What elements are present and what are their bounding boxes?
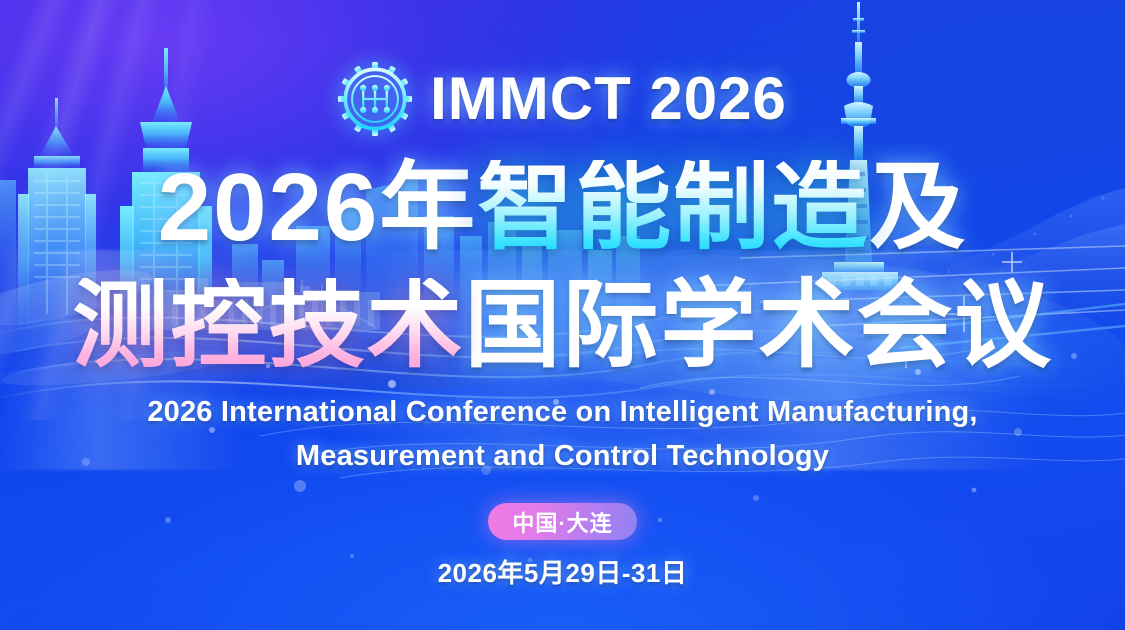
title-cn-l1-seg1: 2026年 <box>158 160 478 256</box>
title-cn-line1: 2026年智能制造及 <box>0 160 1125 256</box>
location-badge: 中国·大连 <box>488 503 636 540</box>
title-cn-l1-seg3: 及 <box>869 160 967 256</box>
title-cn-l1-seg2: 智能制造 <box>477 160 869 256</box>
subtitle-en-line1: 2026 International Conference on Intelli… <box>0 394 1125 430</box>
event-date: 2026年5月29日-31日 <box>0 553 1125 590</box>
gear-circuit-icon <box>338 62 412 136</box>
location-badge-wrap: 中国·大连 <box>0 503 1125 540</box>
brand-header: IMMCT 2026 <box>0 62 1125 136</box>
conference-banner: IMMCT 2026 2026年智能制造及 测控技术国际学术会议 2026 In… <box>0 0 1125 630</box>
brand-title: IMMCT 2026 <box>430 69 787 129</box>
banner-content: IMMCT 2026 2026年智能制造及 测控技术国际学术会议 2026 In… <box>0 0 1125 630</box>
title-cn-line2: 测控技术国际学术会议 <box>0 278 1125 374</box>
title-cn-l2-seg1: 测控技术 <box>73 278 465 374</box>
subtitle-en-line2: Measurement and Control Technology <box>0 438 1125 474</box>
title-cn-l2-seg2: 国际学术会议 <box>465 278 1053 374</box>
